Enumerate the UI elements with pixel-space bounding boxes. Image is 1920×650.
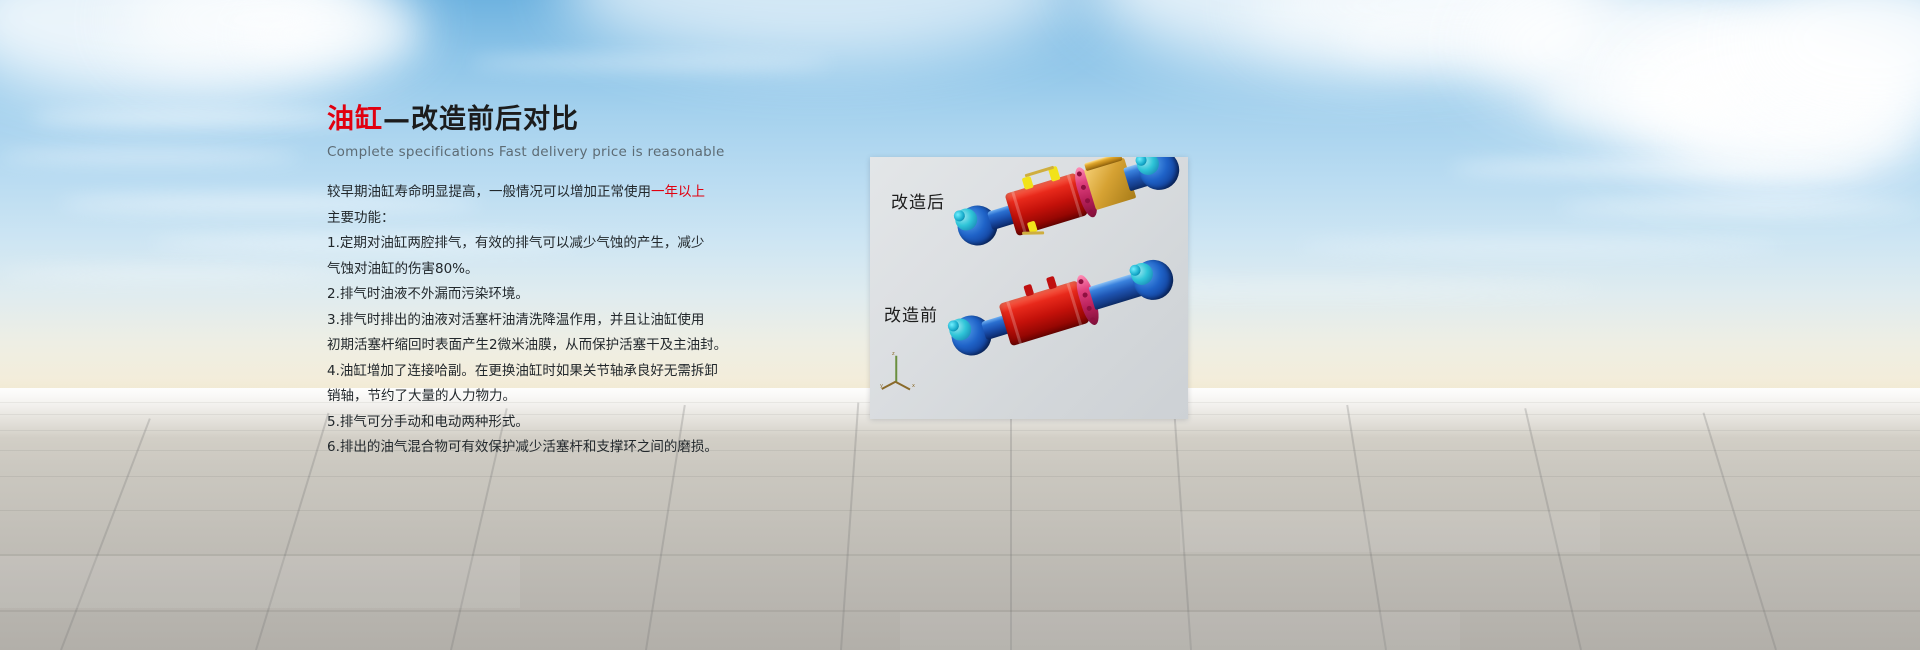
cylinder-bleed-hose (1022, 231, 1044, 234)
page-title: 油缸—改造前后对比 (327, 104, 757, 135)
cylinder-port-fitting (1023, 284, 1034, 297)
tile-highlight (0, 556, 520, 608)
ground-line-vertical (840, 403, 859, 650)
body-line-text: 主要功能： (327, 210, 395, 226)
body-line-text: 3.排气时排出的油液对活塞杆油清洗降温作用，并且让油缸使用 (327, 312, 704, 328)
triad-axis-z (895, 356, 897, 382)
ground-line-vertical (255, 413, 329, 650)
body-line-text: 初期活塞杆缩回时表面产生2微米油膜，从而保护活塞干及主油封。 (327, 337, 727, 353)
ground-plane (0, 388, 1920, 650)
page-subtitle: Complete specifications Fast delivery pr… (327, 144, 757, 160)
banner-body-text: 较早期油缸寿命明显提高，一般情况可以增加正常使用一年以上 主要功能： 1.定期对… (327, 180, 757, 461)
cloud-wisp (470, 56, 830, 70)
ground-line-horizontal (0, 430, 1920, 431)
body-line-text: 气蚀对油缸的伤害80%。 (327, 261, 479, 277)
page-title-rest: —改造前后对比 (383, 104, 579, 135)
body-line-highlight: 一年以上 (651, 184, 705, 200)
ground-line-horizontal (0, 476, 1920, 477)
body-line-text: 销轴，节约了大量的人力物力。 (327, 388, 516, 404)
page-title-highlight: 油缸 (327, 104, 383, 135)
triad-axis-x (896, 381, 911, 390)
body-line-text: 较早期油缸寿命明显提高，一般情况可以增加正常使用 (327, 184, 651, 200)
label-before-modification: 改造前 (884, 301, 938, 326)
banner-text-block: 油缸—改造前后对比 Complete specifications Fast d… (327, 104, 757, 461)
body-line: 1.定期对油缸两腔排气，有效的排气可以减少气蚀的产生，减少 (327, 231, 757, 257)
cylinder-port-fitting (1046, 276, 1057, 290)
body-line-text: 1.定期对油缸两腔排气，有效的排气可以减少气蚀的产生，减少 (327, 235, 704, 251)
banner-stage: 油缸—改造前后对比 Complete specifications Fast d… (0, 0, 1920, 650)
cylinder-comparison-panel: 改造后 改造前 (870, 157, 1188, 419)
body-line-text: 5.排气可分手动和电动两种形式。 (327, 414, 529, 430)
coordinate-triad-icon: z x y (882, 353, 922, 387)
tile-highlight (900, 612, 1460, 650)
body-line: 初期活塞杆缩回时表面产生2微米油膜，从而保护活塞干及主油封。 (327, 333, 757, 359)
cloud-wisp (30, 110, 360, 126)
ground-line-vertical (60, 418, 150, 650)
tile-highlight (1180, 512, 1600, 552)
ground-line-vertical (1703, 413, 1777, 650)
body-line: 主要功能： (327, 206, 757, 232)
body-line-text: 2.排气时油液不外漏而污染环境。 (327, 286, 529, 302)
body-line: 气蚀对油缸的伤害80%。 (327, 257, 757, 283)
label-after-modification: 改造后 (891, 188, 945, 213)
triad-label-x: x (912, 383, 915, 389)
body-line: 4.油缸增加了连接哈副。在更换油缸时如果关节轴承良好无需拆卸 (327, 359, 757, 385)
cloud-wisp (0, 268, 360, 280)
ground-line-horizontal (0, 450, 1920, 451)
cloud-wisp (1560, 200, 1920, 214)
cloud-shape (240, 4, 420, 64)
body-line: 6.排出的油气混合物可有效保护减少活塞杆和支撑环之间的磨损。 (327, 435, 757, 461)
body-line: 5.排气可分手动和电动两种形式。 (327, 410, 757, 436)
body-line: 2.排气时油液不外漏而污染环境。 (327, 282, 757, 308)
triad-label-y: y (880, 383, 883, 389)
body-line-text: 4.油缸增加了连接哈副。在更换油缸时如果关节轴承良好无需拆卸 (327, 363, 718, 379)
triad-axis-y (882, 381, 897, 390)
body-line: 销轴，节约了大量的人力物力。 (327, 384, 757, 410)
body-line: 较早期油缸寿命明显提高，一般情况可以增加正常使用一年以上 (327, 180, 757, 206)
ground-line-horizontal (0, 510, 1920, 511)
cloud-wisp (0, 150, 300, 163)
cloud-wisp (1450, 160, 1870, 176)
cloud-shape (560, 0, 1080, 60)
cloud-wisp (1300, 240, 1780, 253)
body-line-text: 6.排出的油气混合物可有效保护减少活塞杆和支撑环之间的磨损。 (327, 439, 718, 455)
body-line: 3.排气时排出的油液对活塞杆油清洗降温作用，并且让油缸使用 (327, 308, 757, 334)
triad-label-z: z (892, 351, 895, 357)
